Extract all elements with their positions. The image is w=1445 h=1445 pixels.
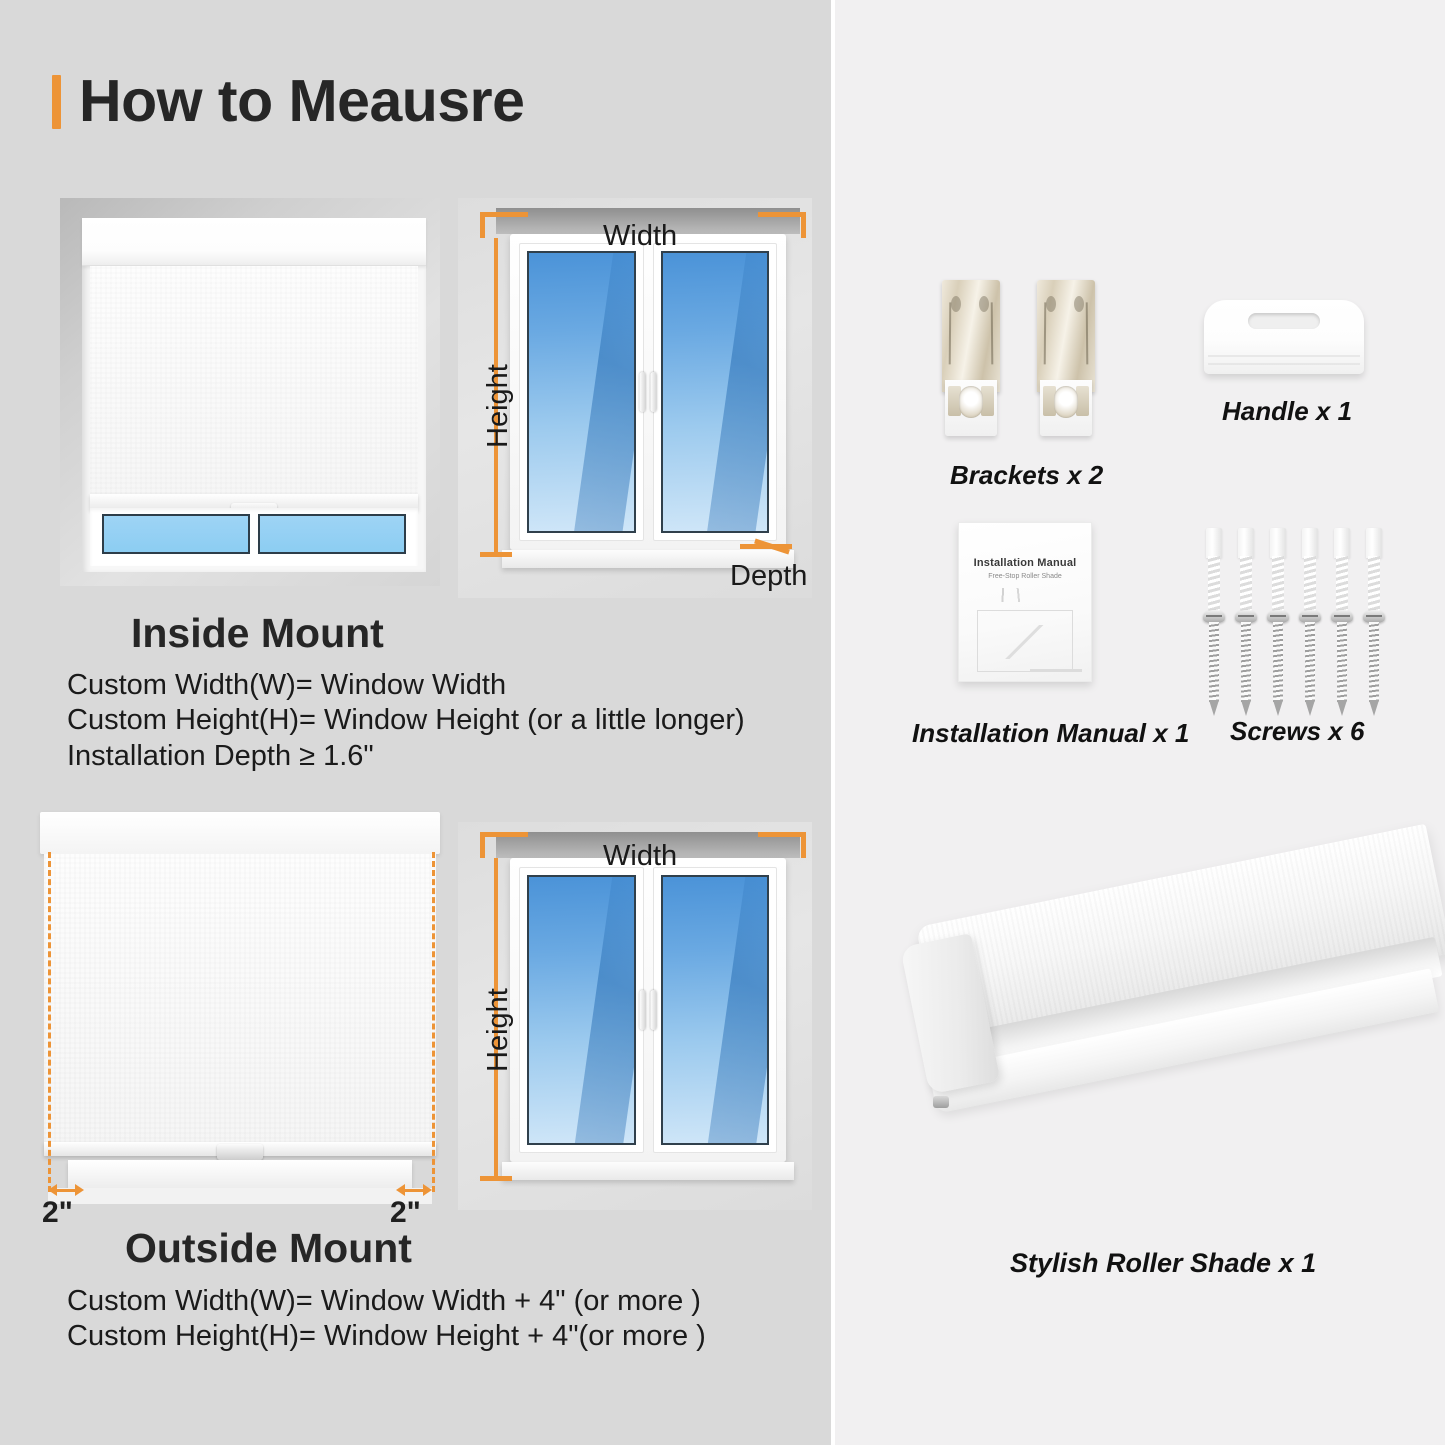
marker-top-left-v	[480, 212, 485, 238]
inside-mount-line-3: Installation Depth ≥ 1.6"	[67, 739, 745, 774]
overhang-label-left: 2"	[42, 1196, 73, 1230]
shade-headrail	[82, 218, 426, 266]
marker-top-right-h	[758, 832, 806, 837]
glass-pane-right	[258, 514, 406, 554]
bracket-icon	[1037, 280, 1095, 438]
overhang-arrow-right	[396, 1184, 432, 1196]
outside-mount-shade-illustration: 2" 2"	[40, 812, 440, 1212]
window-glass-left	[527, 251, 636, 533]
inside-mount-line-1: Custom Width(W)= Window Width	[67, 668, 745, 703]
window-frame	[510, 234, 786, 550]
outside-mount-line-1: Custom Width(W)= Window Width + 4" (or m…	[67, 1284, 706, 1319]
marker-height-bottom	[480, 552, 512, 557]
roller-shade-icon	[905, 890, 1425, 1220]
window-sill	[502, 1162, 794, 1180]
window-handle-right	[651, 990, 657, 1030]
wall-anchor-icon	[1270, 528, 1286, 614]
shade-fabric	[90, 266, 418, 494]
inside-mount-shade-illustration	[60, 198, 440, 586]
outside-shade-fabric	[44, 854, 436, 1149]
handle-label: Handle x 1	[1222, 396, 1352, 427]
screw-icon	[1366, 610, 1382, 716]
window-sash-right	[653, 243, 778, 541]
glass-pane-left	[102, 514, 250, 554]
marker-top-left-h	[480, 832, 528, 837]
screw-icon	[1206, 610, 1222, 716]
how-to-measure-title: How to Meausre	[79, 72, 524, 131]
panel-divider	[831, 0, 835, 1445]
window-glass-right	[661, 251, 770, 533]
window-sash-left	[519, 867, 644, 1153]
outside-mount-spec-list: Custom Width(W)= Window Width + 4" (or m…	[67, 1284, 706, 1355]
wall-anchor-icon	[1334, 528, 1350, 614]
brackets-label: Brackets x 2	[950, 460, 1103, 491]
inside-mount-window-diagram: Width Height Depth	[458, 198, 812, 598]
roller-shade-pin	[933, 1096, 949, 1108]
marker-top-left-v	[480, 832, 485, 858]
label-width: Width	[603, 220, 677, 253]
manual-label: Installation Manual x 1	[912, 718, 1189, 749]
roller-shade-label: Stylish Roller Shade x 1	[1010, 1248, 1316, 1279]
inside-mount-line-2: Custom Height(H)= Window Height (or a li…	[67, 703, 745, 738]
package-contents-panel: What's in the package Brackets x 2 Handl	[834, 0, 1445, 1445]
inside-mount-title: Inside Mount	[131, 610, 384, 657]
screw-icon	[1334, 610, 1350, 716]
window-glass-left	[527, 875, 636, 1145]
label-depth: Depth	[730, 560, 807, 593]
label-height: Height	[482, 364, 515, 448]
manual-diagram-box	[977, 610, 1073, 672]
label-height: Height	[482, 988, 515, 1072]
outside-mount-title: Outside Mount	[125, 1225, 412, 1272]
window-frame	[510, 858, 786, 1162]
overhang-guide-right	[432, 852, 435, 1192]
outside-mount-line-2: Custom Height(H)= Window Height + 4"(or …	[67, 1319, 706, 1354]
marker-top-left-h	[480, 212, 528, 217]
wall-anchor-icon	[1302, 528, 1318, 614]
overhang-arrow-left	[48, 1184, 84, 1196]
outside-shade-headrail	[40, 812, 440, 854]
window-glass-strip	[90, 508, 418, 566]
bracket-icon	[942, 280, 1000, 438]
window-handle-left	[640, 990, 646, 1030]
accent-bar-icon	[52, 75, 61, 129]
screw-icon	[1302, 610, 1318, 716]
window-recess	[82, 218, 426, 572]
wall-anchor-icon	[1366, 528, 1382, 614]
window-handles	[640, 990, 657, 1030]
window-handle-left	[640, 372, 646, 412]
manual-cover-title: Installation Manual	[959, 557, 1091, 569]
handle-icon	[1204, 300, 1364, 374]
overhang-guide-left	[48, 852, 51, 1192]
outside-window-sill	[68, 1160, 412, 1188]
marker-top-right-h	[758, 212, 806, 217]
manual-scribble	[996, 588, 1054, 602]
window-handles	[640, 372, 657, 412]
inside-mount-spec-list: Custom Width(W)= Window Width Custom Hei…	[67, 668, 745, 774]
how-to-measure-heading: How to Meausre	[52, 72, 524, 131]
window-sash-left	[519, 243, 644, 541]
marker-top-right-v	[801, 212, 806, 238]
infographic-page: How to Meausre	[0, 0, 1445, 1445]
wall-anchor-icon	[1238, 528, 1254, 614]
marker-height-bottom	[480, 1176, 512, 1181]
window-glass-right	[661, 875, 770, 1145]
outside-shade-pull-handle	[217, 1144, 263, 1160]
how-to-measure-panel: How to Meausre	[0, 0, 834, 1445]
screw-icon	[1238, 610, 1254, 716]
manual-footer-line	[1030, 669, 1082, 672]
wall-anchor-icon	[1206, 528, 1222, 614]
marker-top-right-v	[801, 832, 806, 858]
manual-icon: Installation Manual Free-Stop Roller Sha…	[958, 522, 1092, 682]
manual-cover-subtitle: Free-Stop Roller Shade	[959, 573, 1091, 580]
window-sash-right	[653, 867, 778, 1153]
outside-wall-base	[48, 1188, 432, 1204]
label-width: Width	[603, 840, 677, 873]
screws-label: Screws x 6	[1230, 716, 1364, 747]
outside-mount-window-diagram: Width Height	[458, 822, 812, 1210]
screw-icon	[1270, 610, 1286, 716]
window-handle-right	[651, 372, 657, 412]
